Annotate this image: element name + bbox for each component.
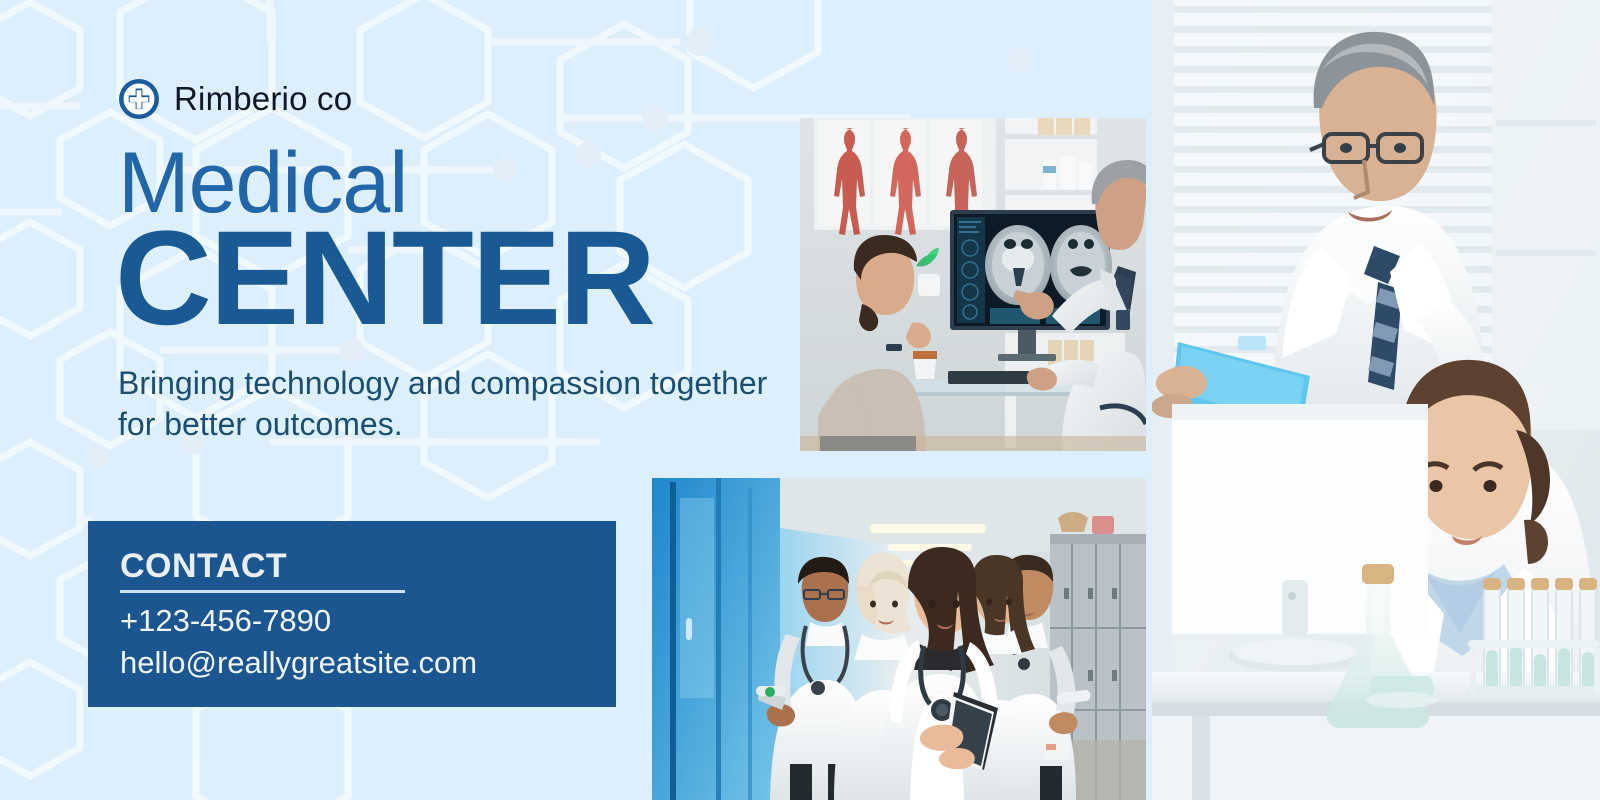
- contact-email[interactable]: hello@reallygreatsite.com: [120, 642, 616, 684]
- contact-phone[interactable]: +123-456-7890: [120, 600, 616, 642]
- brand-name: Rimberio co: [174, 80, 352, 118]
- tagline: Bringing technology and compassion toget…: [118, 363, 798, 445]
- headline-secondary: CENTER: [115, 212, 654, 346]
- doctors-in-laboratory-photo: [1152, 0, 1600, 800]
- brand-lockup: Rimberio co: [118, 78, 352, 120]
- contact-title: CONTACT: [120, 547, 616, 585]
- contact-divider: [120, 590, 405, 593]
- contact-card: CONTACT +123-456-7890 hello@reallygreats…: [88, 521, 616, 707]
- doctor-reviewing-brain-scans-photo: [800, 118, 1146, 451]
- medical-cross-circle-icon: [118, 78, 160, 120]
